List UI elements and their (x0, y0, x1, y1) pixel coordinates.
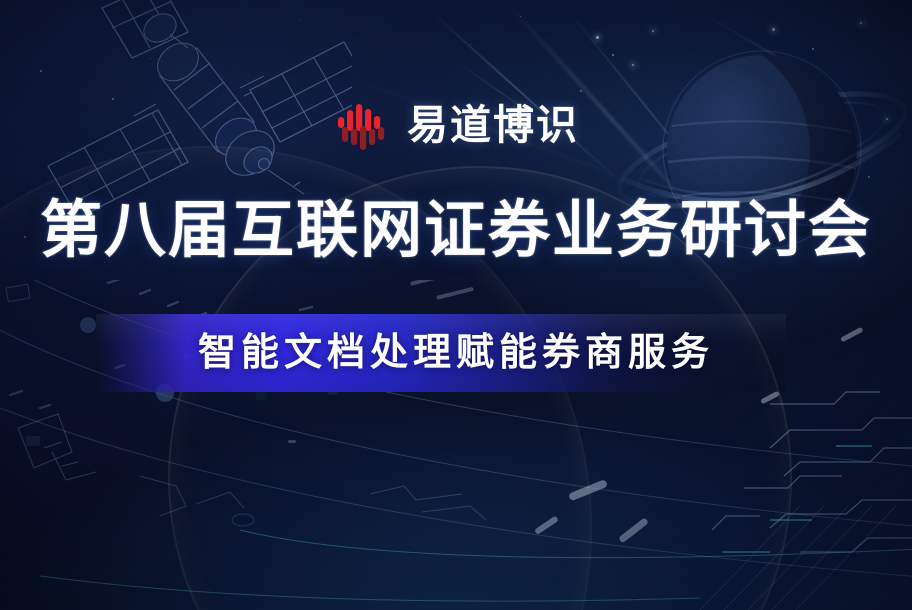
event-poster: 易道博识 第八届互联网证券业务研讨会 智能文档处理赋能券商服务 (0, 0, 912, 610)
poster-content: 易道博识 第八届互联网证券业务研讨会 (0, 0, 912, 610)
page-title: 第八届互联网证券业务研讨会 (40, 200, 872, 262)
subtitle-text: 智能文档处理赋能券商服务 (0, 316, 912, 390)
brand-lockup: 易道博识 (333, 96, 579, 154)
brand-name: 易道博识 (407, 105, 579, 146)
eadbs-soundbar-circle-logo-icon (333, 96, 391, 154)
